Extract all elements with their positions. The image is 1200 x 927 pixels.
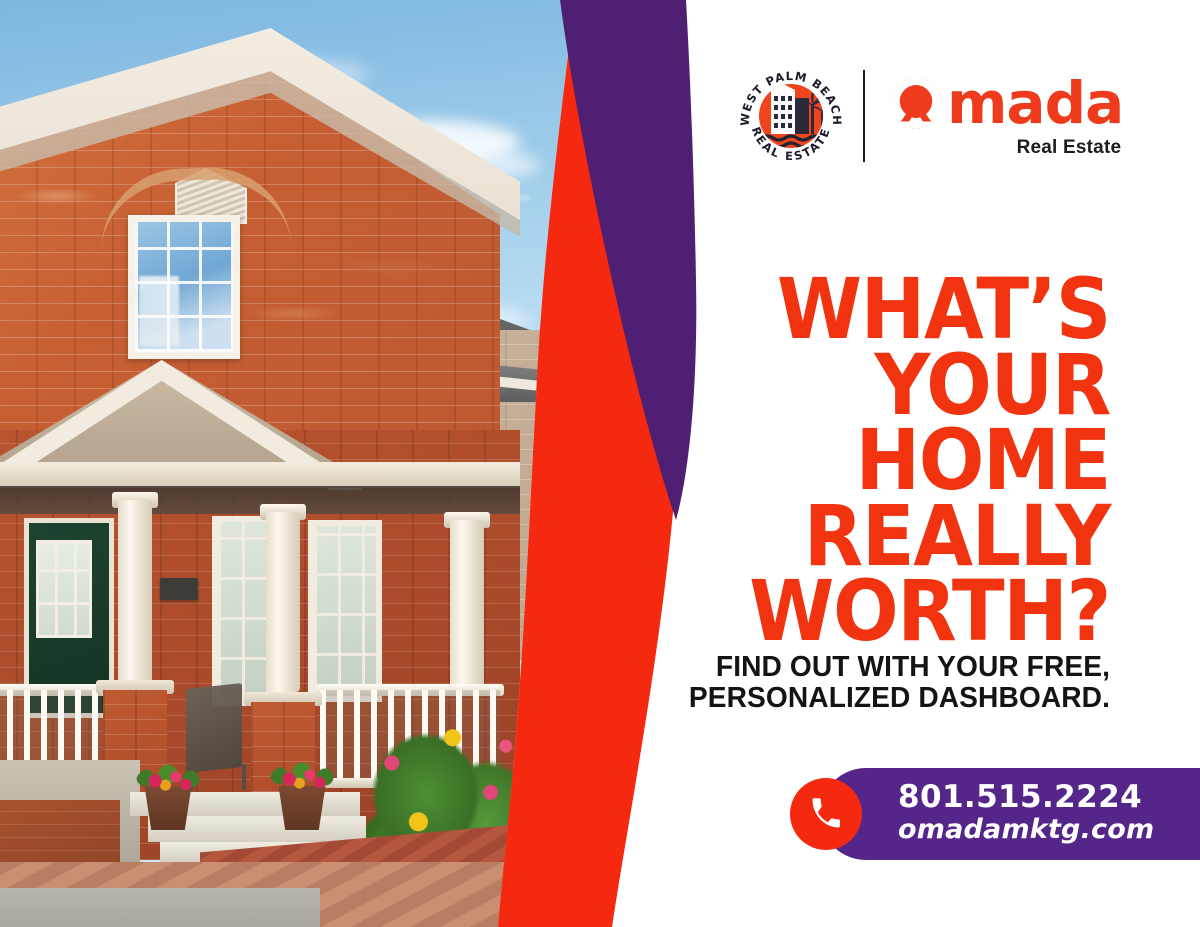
omada-logo[interactable]: mada Real Estate [887, 72, 1123, 159]
logo-lockup[interactable]: WEST PALM BEACH REAL ESTATE mada [735, 58, 1155, 173]
phone-icon [808, 796, 844, 832]
porch-column [266, 512, 300, 692]
subheadline-line-1: FIND OUT WITH YOUR FREE, [606, 652, 1110, 683]
porch-column [450, 520, 484, 688]
headline: WHAT’S YOUR HOME REALLY WORTH? [678, 272, 1110, 650]
contact-bar[interactable]: 801.515.2224 omadamktg.com [790, 768, 1200, 860]
planter-flowers [270, 762, 334, 796]
porch-chair [186, 683, 242, 773]
website-url[interactable]: omadamktg.com [898, 815, 1154, 845]
content-panel: WEST PALM BEACH REAL ESTATE mada [620, 0, 1200, 927]
porch-window [308, 520, 382, 702]
omada-wordmark: mada [947, 77, 1123, 129]
omada-wordmark-row: mada [887, 72, 1123, 134]
headline-line-5: WORTH? [678, 574, 1110, 650]
subheadline: FIND OUT WITH YOUR FREE, PERSONALIZED DA… [606, 652, 1110, 715]
phone-icon-circle[interactable] [790, 778, 862, 850]
omada-tagline: Real Estate [887, 137, 1123, 159]
planter-flowers [136, 764, 200, 798]
house-plaque [160, 578, 198, 600]
logo-divider [863, 70, 865, 162]
contact-details: 801.515.2224 omadamktg.com [898, 781, 1154, 846]
subheadline-line-2: PERSONALIZED DASHBOARD. [606, 683, 1110, 714]
west-palm-beach-badge-svg: WEST PALM BEACH REAL ESTATE [735, 60, 847, 172]
omada-o-icon [887, 74, 945, 132]
upper-window [128, 215, 240, 359]
porch-column [118, 500, 152, 692]
door-glass-panes [36, 540, 92, 638]
porch-beam [0, 462, 520, 488]
real-estate-flyer: WEST PALM BEACH REAL ESTATE mada [0, 0, 1200, 927]
west-palm-beach-badge[interactable]: WEST PALM BEACH REAL ESTATE [735, 60, 847, 172]
phone-number[interactable]: 801.515.2224 [898, 781, 1154, 814]
driveway [0, 888, 320, 927]
